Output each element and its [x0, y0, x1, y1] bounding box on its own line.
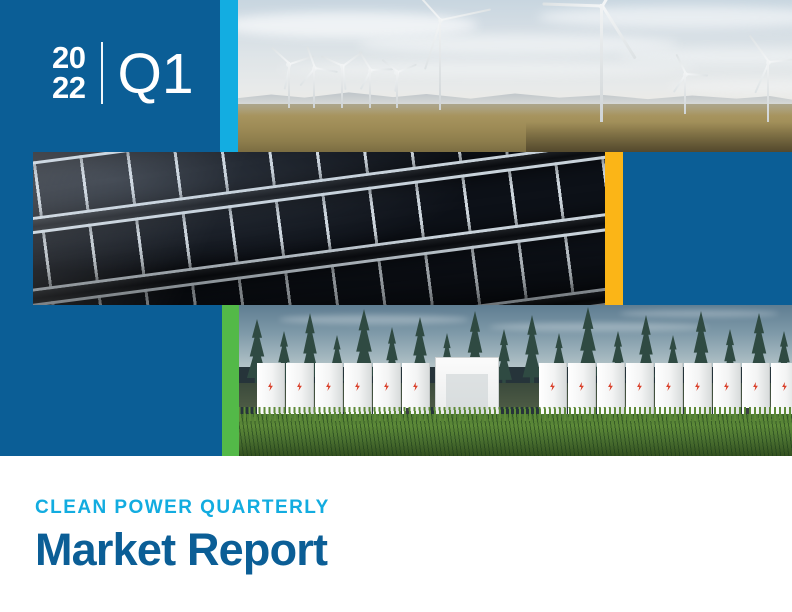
turbine-tower — [396, 70, 398, 108]
turbine-tower — [288, 62, 290, 108]
accent-bar-cyan — [220, 0, 238, 152]
wind-turbine — [366, 68, 374, 108]
kicker-text: CLEAN POWER QUARTERLY — [35, 498, 330, 517]
lightning-bolt-icon — [695, 382, 701, 391]
ground-shadow — [526, 122, 792, 152]
turbine-tower — [600, 4, 603, 122]
year-quarter-lockup: 20 22 Q1 — [52, 42, 194, 104]
wind-turbine — [593, 4, 609, 122]
accent-bar-yellow — [605, 152, 623, 305]
wind-turbine — [763, 60, 773, 122]
title-block: CLEAN POWER QUARTERLY Market Report — [35, 498, 330, 572]
lightning-bolt-icon — [384, 382, 390, 391]
wind-turbine — [284, 62, 293, 108]
lightning-bolt-icon — [579, 382, 585, 391]
blue-panel-bottom-left — [0, 305, 222, 456]
lightning-bolt-icon — [413, 382, 419, 391]
lightning-bolt-icon — [724, 382, 730, 391]
turbine-tower — [684, 72, 686, 114]
blue-panel-middle-right — [623, 152, 792, 305]
cover-imagery-collage: 20 22 Q1 — [0, 0, 792, 456]
lightning-bolt-icon — [782, 382, 788, 391]
year-stack: 20 22 — [52, 43, 85, 103]
solar-panel-photo — [33, 152, 605, 305]
lightning-bolt-icon — [326, 382, 332, 391]
wind-turbine-photo — [238, 0, 792, 152]
report-cover: 20 22 Q1 CLEAN POWER QUARTERLY Market Re… — [0, 0, 792, 612]
vertical-divider — [101, 42, 103, 104]
lightning-bolt-icon — [268, 382, 274, 391]
solar-array — [33, 152, 605, 305]
turbine-tower — [767, 60, 769, 122]
turbine-tower — [369, 68, 371, 108]
lightning-bolt-icon — [355, 382, 361, 391]
lightning-bolt-icon — [753, 382, 759, 391]
turbine-tower — [313, 66, 315, 108]
foreground-grass — [239, 414, 792, 456]
year-bottom: 22 — [52, 73, 85, 103]
wind-turbine — [433, 18, 447, 110]
lightning-bolt-icon — [666, 382, 672, 391]
lightning-bolt-icon — [608, 382, 614, 391]
wind-turbine — [338, 64, 346, 108]
wind-turbine — [393, 70, 400, 108]
wind-turbine — [681, 72, 689, 114]
year-top: 20 — [52, 43, 85, 73]
lightning-bolt-icon — [637, 382, 643, 391]
turbine-tower — [341, 64, 343, 108]
battery-storage-photo — [239, 305, 792, 456]
cover-footer: CLEAN POWER QUARTERLY Market Report AMER… — [0, 456, 792, 612]
wind-turbine — [310, 66, 318, 108]
lightning-bolt-icon — [550, 382, 556, 391]
quarter-label: Q1 — [117, 46, 193, 103]
turbine-tower — [439, 18, 441, 110]
accent-bar-green — [222, 305, 239, 456]
page-title: Market Report — [35, 527, 330, 572]
lightning-bolt-icon — [297, 382, 303, 391]
